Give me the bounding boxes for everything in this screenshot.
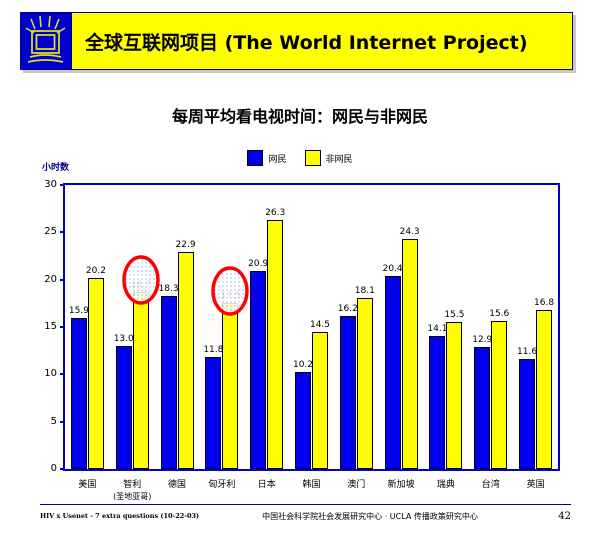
y-tick-label: 30 — [33, 179, 57, 190]
bar-non-netizen — [88, 278, 104, 469]
footer-page-number: 42 — [541, 511, 571, 522]
bar-value-label: 16.8 — [530, 298, 558, 308]
bar-netizen — [519, 359, 535, 469]
bar-netizen — [116, 346, 132, 469]
bar-netizen — [295, 372, 311, 469]
footer: HIV x Usenet - 7 extra questions (10-22-… — [40, 507, 571, 525]
bar-netizen — [250, 271, 266, 469]
bar-non-netizen — [446, 322, 462, 469]
chart-plot-area: 051015202530 15.920.213.018.718.322.911.… — [0, 0, 600, 540]
bar-netizen — [71, 318, 87, 469]
footer-divider — [40, 504, 571, 505]
bar-netizen — [474, 347, 490, 469]
bar-value-label: 24.3 — [396, 227, 424, 237]
bar-value-label: 20.2 — [82, 266, 110, 276]
bar-non-netizen — [312, 332, 328, 469]
bar-netizen — [385, 276, 401, 469]
bars-layer: 15.920.213.018.718.322.911.817.520.926.3… — [65, 185, 558, 469]
bar-value-label: 26.3 — [261, 208, 289, 218]
bar-value-label: 14.5 — [306, 320, 334, 330]
bar-non-netizen — [222, 303, 238, 469]
bar-non-netizen — [178, 252, 194, 469]
bar-netizen — [205, 357, 221, 469]
x-axis-category-subnote: (圣地亚哥) — [94, 491, 171, 502]
bar-non-netizen — [267, 220, 283, 469]
bar-netizen — [161, 296, 177, 469]
footer-center-text: 中国社会科学院社会发展研究中心 · UCLA 传播政策研究中心 — [199, 511, 541, 522]
bar-non-netizen — [133, 292, 149, 469]
bar-value-label: 22.9 — [172, 240, 200, 250]
x-axis-category-label: 英国 — [503, 477, 568, 490]
bar-netizen — [429, 336, 445, 469]
y-tick-label: 25 — [33, 226, 57, 237]
bar-value-label: 17.5 — [216, 291, 244, 301]
bar-non-netizen — [491, 321, 507, 469]
bar-value-label: 15.5 — [440, 310, 468, 320]
bar-non-netizen — [402, 239, 418, 469]
y-tick-label: 0 — [33, 463, 57, 474]
bar-value-label: 18.7 — [127, 280, 155, 290]
bar-value-label: 18.1 — [351, 286, 379, 296]
bar-non-netizen — [357, 298, 373, 469]
bar-netizen — [340, 316, 356, 469]
y-tick-label: 15 — [33, 321, 57, 332]
y-tick-label: 20 — [33, 274, 57, 285]
bar-value-label: 15.6 — [485, 309, 513, 319]
y-tick-label: 5 — [33, 416, 57, 427]
footer-left-text: HIV x Usenet - 7 extra questions (10-22-… — [40, 512, 199, 520]
bar-non-netizen — [536, 310, 552, 469]
y-tick-label: 10 — [33, 368, 57, 379]
